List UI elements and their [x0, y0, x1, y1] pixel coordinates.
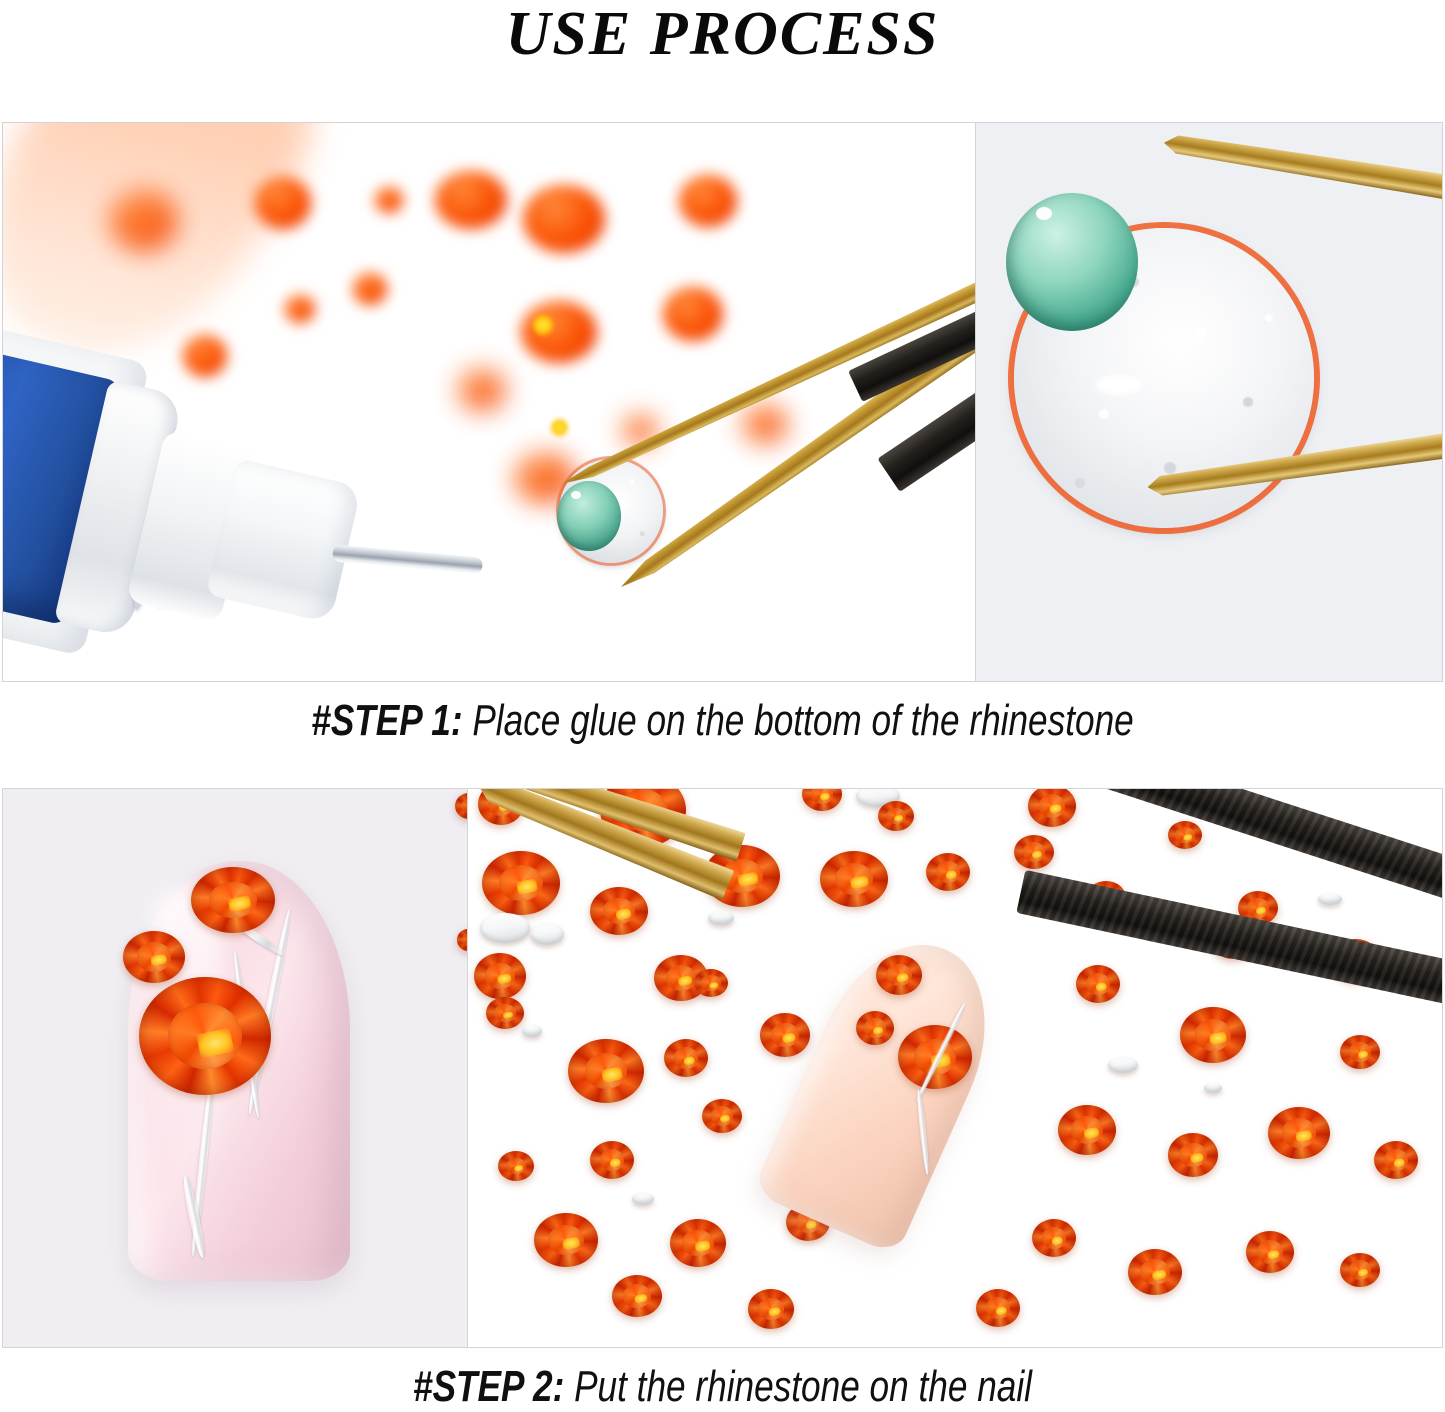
- blurred-rhinestone: [111, 191, 177, 251]
- step-2-label: #STEP 2:: [413, 1362, 564, 1411]
- rhinestone-face-down: [480, 913, 530, 943]
- blurred-rhinestone: [255, 177, 311, 229]
- glue-bottle: R D: [3, 302, 472, 681]
- rhinestone-closeup-photo: [975, 123, 1442, 681]
- rhinestone-face-down: [1318, 893, 1342, 905]
- step-2-caption: #STEP 2: Put the rhinestone on the nail: [145, 1362, 1301, 1412]
- use-process-infographic: USE PROCESS: [0, 0, 1445, 1412]
- rhinestone-scattered: [670, 1219, 726, 1267]
- rhinestone-face-down: [632, 1193, 654, 1205]
- blurred-rhinestone: [285, 295, 315, 323]
- rhinestone-scattered: [1014, 835, 1054, 869]
- rhinestone-scattered: [1340, 1253, 1380, 1287]
- glue-needle-applicator: [332, 545, 483, 575]
- rhinestone-scattered: [474, 953, 526, 999]
- rhinestone-on-nail: [876, 955, 922, 995]
- rhinestone-on-nail: [123, 931, 185, 983]
- blurred-rhinestone: [523, 185, 605, 253]
- rhinestone-scattered: [590, 887, 648, 935]
- blurred-rhinestone: [521, 301, 597, 363]
- blurred-rhinestone: [663, 287, 723, 341]
- rhinestone-scattered: [1058, 1105, 1116, 1155]
- rhinestone-scattered: [1128, 1249, 1182, 1295]
- blurred-rhinestone: [459, 369, 505, 411]
- rhinestone-scattered: [976, 1289, 1020, 1327]
- rhinestone-scattered: [1374, 1141, 1418, 1179]
- glue-droplet: [557, 481, 621, 551]
- rhinestone-sparkle: [533, 315, 553, 335]
- rhinestone-scattered: [760, 1013, 810, 1057]
- step-1-text: Place glue on the bottom of the rhinesto…: [463, 696, 1134, 745]
- placing-rhinestone-photo: [467, 789, 1442, 1347]
- glue-highlight: [1096, 375, 1142, 395]
- page-title: USE PROCESS: [0, 0, 1445, 70]
- rhinestone-scattered: [590, 1141, 634, 1179]
- step-2-image-row: [2, 788, 1443, 1348]
- blurred-rhinestone: [743, 405, 787, 443]
- rhinestone-sparkle: [551, 419, 568, 436]
- rhinestone-on-nail: [191, 867, 275, 933]
- rhinestone-on-nail: [139, 977, 271, 1095]
- rhinestone-scattered: [748, 1289, 794, 1329]
- rhinestone-face-down: [530, 923, 564, 945]
- rhinestone-scattered: [1076, 965, 1120, 1003]
- rhinestone-scattered: [482, 851, 560, 915]
- rhinestone-scattered: [664, 1039, 708, 1077]
- blurred-rhinestone: [435, 171, 507, 229]
- rhinestone-on-nail: [856, 1011, 894, 1045]
- rhinestone-scattered: [702, 1099, 742, 1133]
- rhinestone-scattered: [1340, 1035, 1380, 1069]
- step-1-caption: #STEP 1: Place glue on the bottom of the…: [145, 696, 1301, 746]
- rhinestone-face-down: [708, 911, 734, 925]
- rhinestone-scattered: [534, 1213, 598, 1267]
- rhinestone-scattered: [1180, 1007, 1246, 1063]
- rhinestone-scattered: [1246, 1231, 1294, 1273]
- glue-application-photo: R D: [3, 123, 975, 681]
- rhinestone-scattered: [1168, 1133, 1218, 1177]
- rhinestone-scattered: [498, 1151, 534, 1181]
- rhinestone-scattered: [926, 853, 970, 891]
- glue-droplet-macro: [1006, 193, 1138, 331]
- tweezer-tip-upper: [1162, 129, 1442, 206]
- rhinestone-edge: [455, 793, 467, 819]
- rhinestone-scattered: [1168, 821, 1202, 849]
- rhinestone-scattered: [1028, 789, 1076, 827]
- blurred-rhinestone: [353, 273, 387, 305]
- rhinestone-scattered: [820, 851, 888, 907]
- rhinestone-scattered: [802, 789, 842, 811]
- rhinestone-face-down: [1204, 1083, 1222, 1093]
- finished-nail-photo: [3, 789, 467, 1347]
- rhinestone-edge: [457, 929, 467, 951]
- step-1-image-row: R D: [2, 122, 1443, 682]
- blurred-rhinestone: [375, 187, 403, 213]
- blurred-rhinestone: [679, 175, 737, 227]
- rhinestone-scattered: [486, 997, 524, 1029]
- rhinestone-scattered: [694, 969, 728, 997]
- rhinestone-scattered: [1268, 1107, 1330, 1159]
- step-1-label: #STEP 1:: [311, 696, 462, 745]
- rhinestone-face-down: [522, 1025, 542, 1037]
- rhinestone-face-down: [1108, 1057, 1138, 1073]
- rhinestone-scattered: [1032, 1219, 1076, 1257]
- rhinestone-scattered: [568, 1039, 644, 1103]
- rhinestone-scattered: [878, 801, 914, 831]
- step-2-text: Put the rhinestone on the nail: [564, 1362, 1032, 1411]
- rhinestone-scattered: [612, 1275, 662, 1317]
